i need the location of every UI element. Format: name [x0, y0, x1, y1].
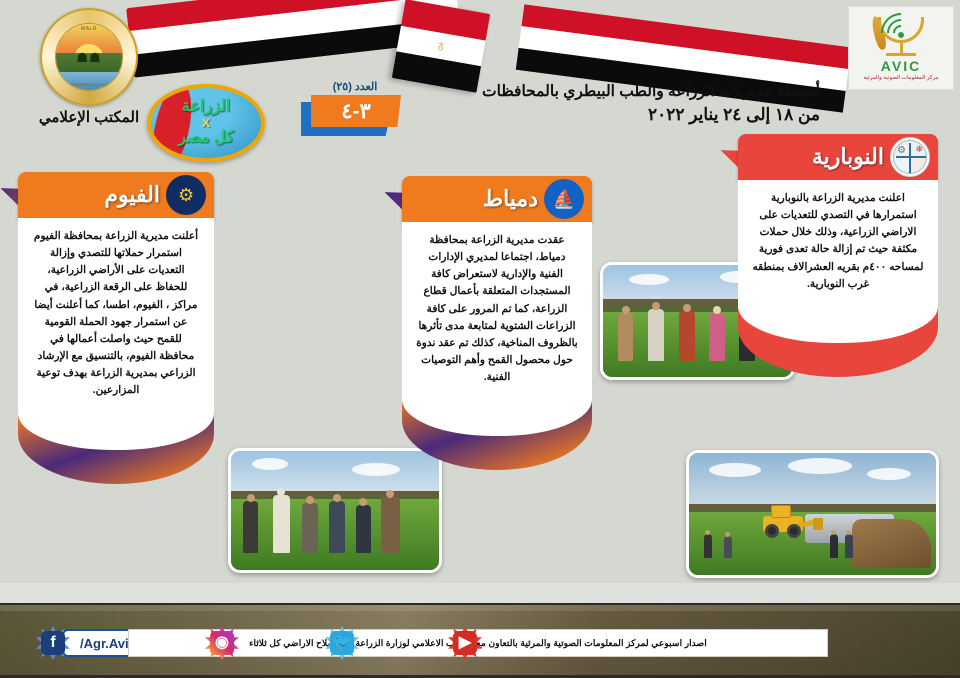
- infographic-page: ♁ ☗☗ MALR ARAB REPUBLIC OF EGYPT المكتب …: [0, 0, 960, 678]
- card-bottom-shape: [402, 400, 592, 474]
- gear-icon: ⚙: [897, 145, 906, 156]
- badge-line-1: الزراعة: [182, 99, 230, 116]
- malr-seal-icon: ☗☗ MALR ARAB REPUBLIC OF EGYPT: [40, 8, 138, 106]
- card-header: ⛵ دمياط: [402, 176, 592, 222]
- egypt-flag-knot: ♁: [392, 0, 491, 93]
- youtube-icon: ▶: [448, 626, 482, 660]
- lower-band: [0, 583, 960, 603]
- bulldozer-removal-photo: [686, 450, 939, 578]
- seal-bottom-text: ARAB REPUBLIC OF EGYPT: [56, 82, 122, 87]
- issue-number: ٣-٤: [311, 95, 401, 127]
- signal-arc-3-icon: [873, 6, 930, 61]
- fayoum-waterwheel-icon: ⚙: [166, 175, 206, 215]
- badge-line-2: X: [202, 117, 210, 130]
- governorate-name: الفيوم: [104, 182, 160, 208]
- instagram-glyph: ◉: [210, 631, 234, 655]
- page-subtitle: من ١٨ إلى ٢٤ يناير ٢٠٢٢: [400, 105, 820, 125]
- governorate-name: النوبارية: [812, 144, 884, 170]
- avic-name: AVIC: [881, 59, 921, 73]
- youtube-glyph: ▶: [453, 631, 477, 655]
- avic-arabic-name: مركز المعلومات الصوتية والمرئية: [864, 75, 939, 81]
- facebook-glyph: f: [41, 631, 65, 655]
- agriculture-campaign-badge: الزراعة X كل مصر: [147, 84, 265, 162]
- header-titles: أنشطة مديريات الزراعة والطب البيطري بالم…: [400, 82, 820, 125]
- bulldozer-icon: [753, 508, 815, 538]
- card-bottom-shape: [738, 307, 938, 381]
- facebook-icon: f: [36, 626, 70, 660]
- avic-mark-icon: [870, 15, 932, 61]
- badge-line-3: كل مصر: [178, 130, 233, 147]
- flower-icon: ❄: [915, 144, 923, 155]
- issue-label: العدد (٢٥): [300, 80, 410, 93]
- governorate-card-fayoum: ⚙ الفيوم أعلنت مديرية الزراعة بمحافظة ال…: [18, 172, 214, 488]
- card-header: ⚙ ❄ النوبارية: [738, 134, 938, 180]
- footer: f /Agr.Avic1 ◉ /Agr.Avic1 🐦 /Agr_Avic1 ▶…: [0, 603, 960, 678]
- card-header: ⚙ الفيوم: [18, 172, 214, 218]
- ministry-logo: ☗☗ MALR ARAB REPUBLIC OF EGYPT المكتب ال…: [30, 8, 148, 126]
- brush-pile: [852, 519, 931, 568]
- instagram-icon: ◉: [205, 626, 239, 660]
- governorate-card-nubariya: ⚙ ❄ النوبارية اعلنت مديرية الزراعة بالنو…: [738, 134, 938, 381]
- avic-logo: AVIC مركز المعلومات الصوتية والمرئية: [848, 6, 954, 90]
- card-body-text: عقدت مديرية الزراعة بمحافظة دمياط، اجتما…: [402, 222, 592, 400]
- nubariya-emblem-icon: ⚙ ❄: [890, 137, 930, 177]
- sailboat-icon: ⛵: [544, 179, 584, 219]
- card-body-text: أعلنت مديرية الزراعة بمحافظة الفيوم استم…: [18, 218, 214, 414]
- badge-swoosh: [147, 84, 198, 162]
- seal-figures-icon: ☗☗: [76, 50, 101, 66]
- card-bottom-shape: [18, 414, 214, 488]
- twitter-glyph: 🐦: [330, 631, 354, 655]
- page-title: أنشطة مديريات الزراعة والطب البيطري بالم…: [400, 82, 820, 101]
- seal-acronym: MALR: [56, 26, 122, 32]
- issue-badge: العدد (٢٥) ٣-٤: [300, 80, 410, 133]
- governorate-name: دمياط: [483, 186, 538, 212]
- footer-strip: [0, 605, 960, 611]
- eagle-of-saladin-icon: ♁: [433, 37, 449, 56]
- card-body-text: اعلنت مديرية الزراعة بالنوبارية استمراره…: [738, 180, 938, 307]
- governorate-card-damietta: ⛵ دمياط عقدت مديرية الزراعة بمحافظة دميا…: [402, 176, 592, 474]
- twitter-icon: 🐦: [325, 626, 359, 660]
- media-office-caption: المكتب الإعلامي: [30, 108, 148, 126]
